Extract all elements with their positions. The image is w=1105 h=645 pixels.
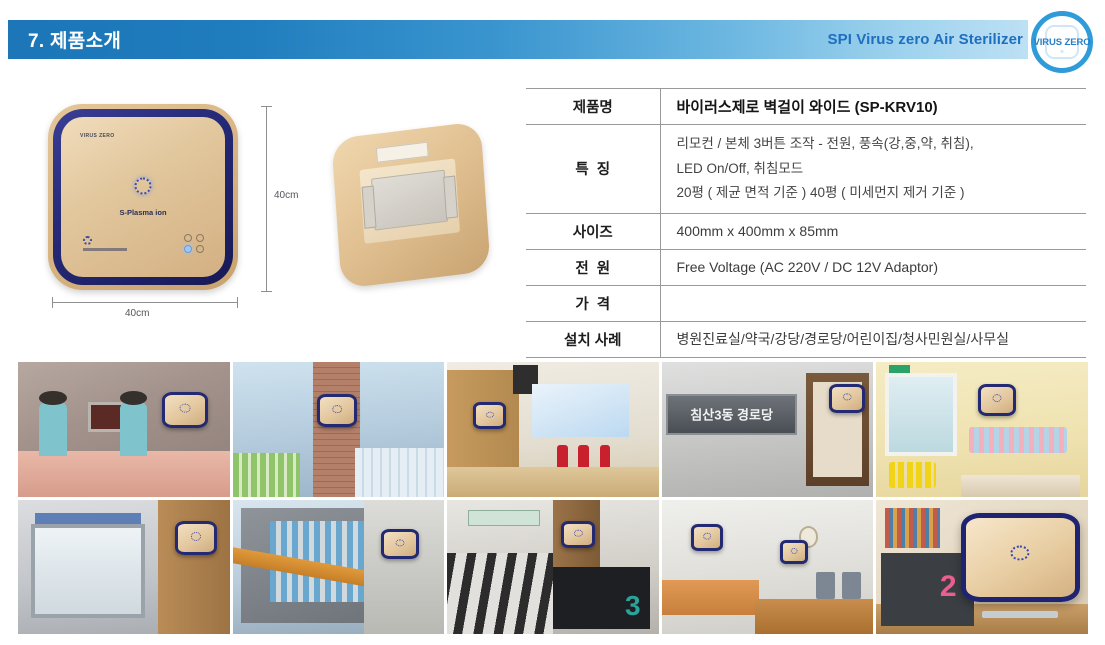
spec-key-power: 전 원 — [526, 249, 660, 285]
wall-mounted-sterilizer — [162, 392, 209, 428]
scene-person-2 — [120, 402, 148, 456]
table-row-features: 특 징 리모컨 / 본체 3버튼 조작 - 전원, 풍속(강,중,약, 취침),… — [526, 125, 1086, 214]
scene-window — [885, 373, 957, 456]
scene-wall-artwork — [969, 427, 1066, 454]
led-indicator-icon — [184, 245, 192, 253]
scene-bookshelf — [885, 508, 940, 548]
floor-number-2: 2 — [940, 570, 957, 604]
service-hall-sign — [468, 510, 540, 526]
fan-button-icon — [196, 234, 204, 242]
scene-clinic-interior — [364, 500, 444, 635]
spec-value-features: 리모컨 / 본체 3버튼 조작 - 전원, 풍속(강,중,약, 취침), LED… — [660, 125, 1086, 214]
wall-mounted-sterilizer — [381, 529, 419, 559]
spec-value-power: Free Voltage (AC 220V / DC 12V Adaptor) — [660, 249, 1086, 285]
spec-key-installations: 설치 사례 — [526, 321, 660, 357]
width-dimension-label: 40cm — [125, 308, 149, 319]
wall-mounted-sterilizer — [691, 524, 723, 551]
scene-waiting-room-floor — [755, 599, 873, 634]
page-title: 7. 제품소개 — [8, 26, 121, 53]
scene-projection-banner — [532, 384, 629, 438]
scene-product-shelf-right — [355, 448, 444, 496]
scene-head-2 — [120, 391, 148, 405]
device-center-label: S-Plasma ion — [119, 208, 166, 217]
installation-photo-grid: 침산3동 경로당 3 — [18, 362, 1088, 634]
scene-cabinet — [961, 475, 1080, 497]
scene-wall-decoration-dots — [889, 462, 936, 489]
rating-label-sticker — [376, 142, 429, 163]
wall-mounted-sterilizer — [473, 402, 507, 429]
photo-hospital-corridor — [662, 500, 874, 635]
scene-display-board: 3 — [553, 567, 650, 629]
scene-performer-2 — [578, 445, 589, 467]
spec-value-price — [660, 285, 1086, 321]
power-button-icon — [184, 234, 192, 242]
device-lower-badge — [83, 236, 129, 251]
wall-mounted-sterilizer-2 — [780, 540, 808, 564]
wall-mount-bracket — [371, 170, 448, 231]
table-row-size: 사이즈 400mm x 400mm x 85mm — [526, 213, 1086, 249]
scene-wood-panel-wall — [158, 500, 230, 635]
spec-key-features: 특 징 — [526, 125, 660, 214]
scene-glass-door — [31, 524, 145, 618]
table-row-power: 전 원 Free Voltage (AC 220V / DC 12V Adapt… — [526, 249, 1086, 285]
scene-person-1 — [39, 402, 67, 456]
photo-senior-center: 침산3동 경로당 — [662, 362, 874, 497]
spec-key-size: 사이즈 — [526, 213, 660, 249]
width-dimension-line — [52, 302, 238, 303]
plasma-ion-indicator-icon — [135, 177, 152, 194]
product-spec-table: 제품명 바이러스제로 벽걸이 와이드 (SP-KRV10) 특 징 리모컨 / … — [526, 88, 1086, 358]
table-row-installations: 설치 사례 병원진료실/약국/강당/경로당/어린이집/청사민원실/사무실 — [526, 321, 1086, 357]
photo-product-showcase: 2 — [876, 500, 1088, 635]
spec-value-product-name: 바이러스제로 벽걸이 와이드 (SP-KRV10) — [660, 89, 1086, 125]
scene-head-1 — [39, 391, 67, 405]
scene-monitor — [88, 402, 124, 432]
scene-floor — [18, 451, 230, 497]
scene-chair-2 — [816, 572, 835, 599]
product-front-view: VIRUS ZERO S-Plasma ion — [48, 104, 238, 290]
scene-chair-1 — [842, 572, 861, 599]
product-line-label: SPI Virus zero Air Sterilizer — [828, 31, 1023, 48]
wall-mounted-sterilizer — [175, 521, 217, 555]
product-photo-area: VIRUS ZERO S-Plasma ion 40cm 40cm — [18, 84, 508, 346]
spec-key-price: 가 격 — [526, 285, 660, 321]
office-directory-sign — [881, 553, 974, 626]
device-face: VIRUS ZERO S-Plasma ion — [61, 117, 225, 277]
building-sign-label: 침산3동 경로당 — [690, 405, 773, 424]
product-rear-view — [331, 121, 491, 289]
table-row-product-name: 제품명 바이러스제로 벽걸이 와이드 (SP-KRV10) — [526, 89, 1086, 125]
sleep-button-icon — [196, 245, 204, 253]
photo-office-entrance — [18, 500, 230, 635]
height-dimension-label: 40cm — [274, 190, 298, 201]
wall-mounted-sterilizer — [829, 384, 865, 414]
virus-zero-logo: VIRUS ZERO — [1031, 11, 1093, 73]
feature-line-3: 20평 ( 제균 면적 기준 ) 40평 ( 미세먼지 제거 기준 ) — [677, 181, 1087, 206]
spec-key-product-name: 제품명 — [526, 89, 660, 125]
spec-value-installations: 병원진료실/약국/강당/경로당/어린이집/청사민원실/사무실 — [660, 321, 1086, 357]
scene-stage-floor — [447, 467, 659, 497]
scene-number-3: 3 — [625, 590, 641, 622]
photo-public-service-hall: 3 — [447, 500, 659, 635]
photo-building-exterior — [233, 500, 445, 635]
brand-logo-label: VIRUS ZERO — [1033, 37, 1090, 48]
scene-corridor-wainscot — [662, 580, 759, 615]
building-sign: 침산3동 경로당 — [666, 394, 797, 434]
photo-clinic-exam-room — [18, 362, 230, 497]
feature-line-1: 리모컨 / 본체 3버튼 조작 - 전원, 풍속(강,중,약, 취침), — [677, 132, 1087, 157]
wall-mounted-sterilizer — [317, 394, 357, 426]
product-display-stand — [982, 611, 1058, 618]
wall-mounted-sterilizer — [561, 521, 595, 548]
ion-badge-icon — [83, 236, 92, 245]
scene-brick-column — [313, 362, 360, 497]
product-showcase-unit — [961, 513, 1080, 602]
height-dimension-line — [266, 106, 267, 292]
wall-mounted-sterilizer — [978, 384, 1016, 416]
photo-daycare-room — [876, 362, 1088, 497]
photo-pharmacy-entrance — [233, 362, 445, 497]
scene-performer-3 — [600, 445, 611, 467]
scene-product-shelf-left — [233, 453, 301, 496]
device-badge-bar — [83, 248, 127, 251]
scene-striped-floor — [447, 553, 553, 634]
feature-line-2: LED On/Off, 취침모드 — [677, 157, 1087, 182]
photo-auditorium-stage — [447, 362, 659, 497]
device-control-buttons — [184, 234, 205, 253]
table-row-price: 가 격 — [526, 285, 1086, 321]
device-brand-mark: VIRUS ZERO — [80, 133, 115, 139]
scene-performer-1 — [557, 445, 568, 467]
spec-value-size: 400mm x 400mm x 85mm — [660, 213, 1086, 249]
